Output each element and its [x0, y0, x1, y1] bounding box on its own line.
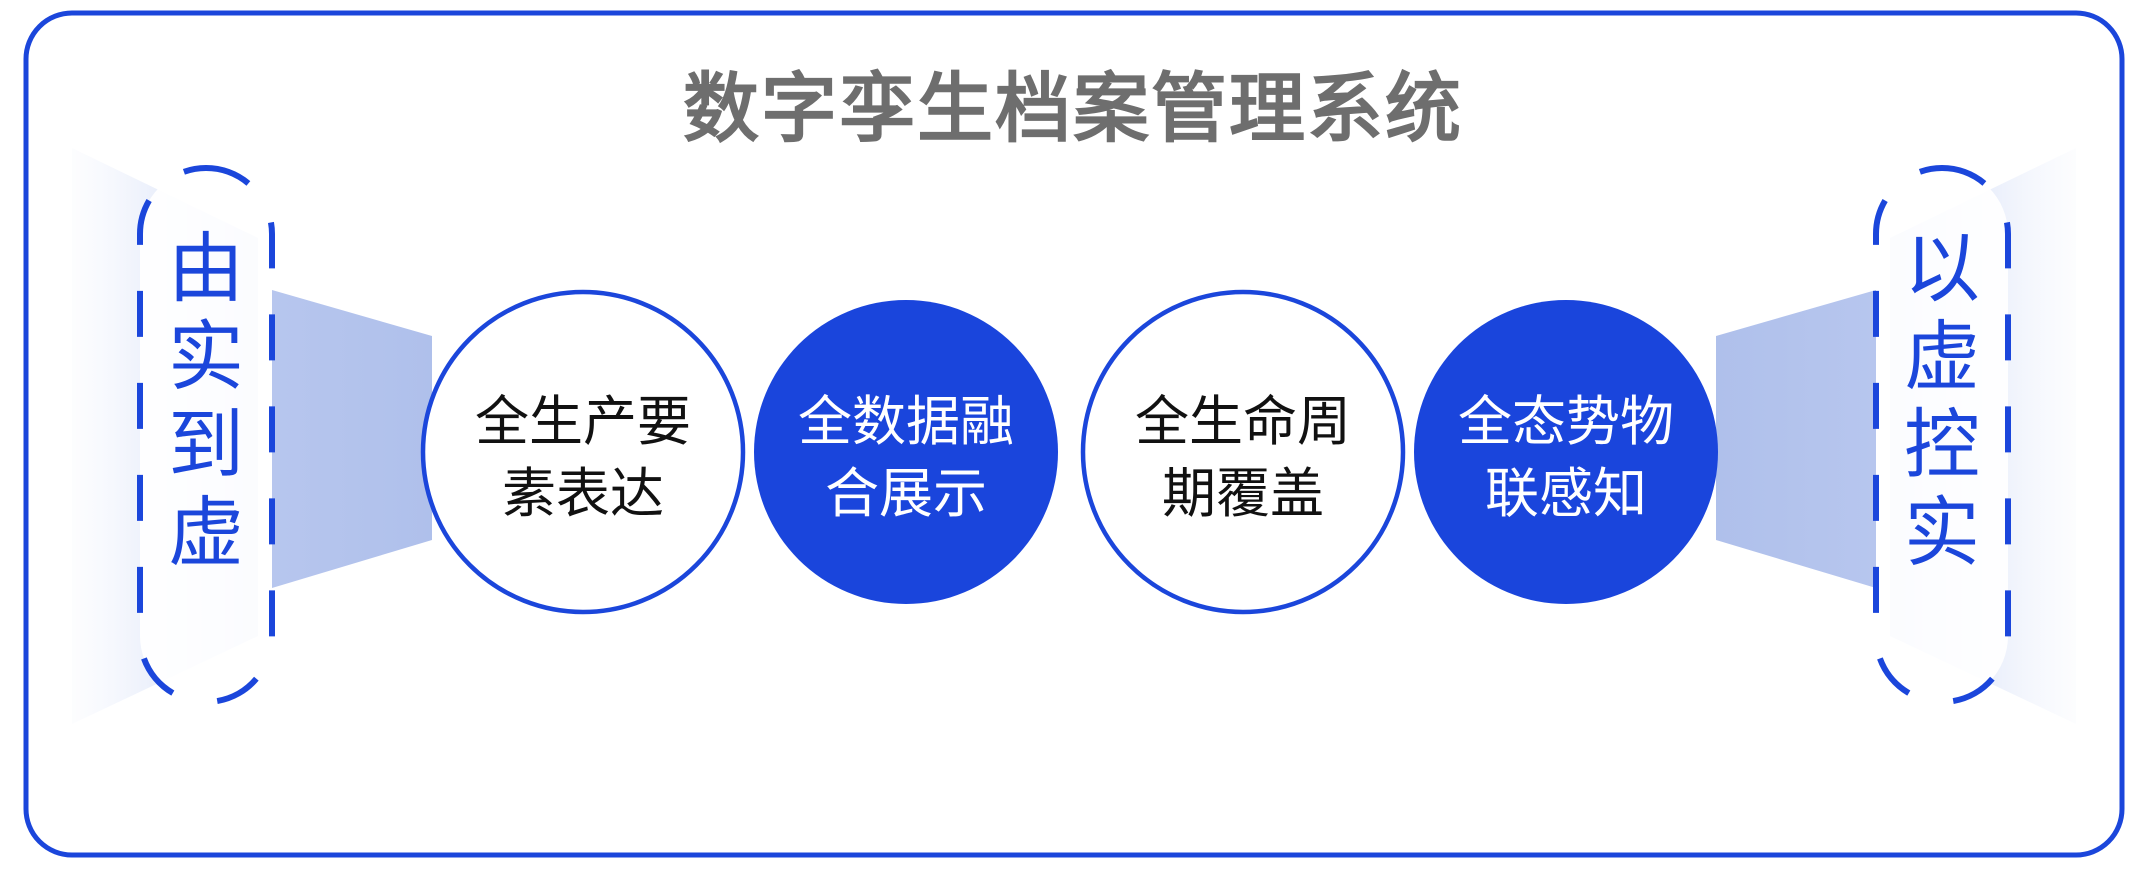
decor-funnel-group — [72, 148, 2076, 724]
circle-2-line-2: 合展示 — [825, 462, 987, 525]
circle-node-2[interactable]: 全数据融 合展示 — [754, 300, 1058, 604]
left-panel-label: 由 实 到 虚 — [168, 224, 244, 577]
right-panel-char-0: 以 — [1904, 224, 1980, 313]
left-panel[interactable]: 由 实 到 虚 — [140, 168, 272, 702]
digital-twin-archive-diagram: 数字孪生档案管理系统 由 实 到 虚 以 虚 控 实 全生产要 素表达 全生命周… — [0, 0, 2147, 872]
diagram-canvas: 数字孪生档案管理系统 由 实 到 虚 以 虚 控 实 全生产要 素表达 全生命周… — [0, 0, 2147, 872]
circle-1-line-2: 素表达 — [502, 462, 664, 525]
left-panel-char-1: 实 — [168, 312, 244, 401]
circle-3-line-2: 期覆盖 — [1162, 462, 1324, 525]
left-panel-char-0: 由 — [168, 224, 244, 313]
funnel-wedge-inner-left — [272, 290, 432, 588]
circle-4-line-1: 全态势物 — [1458, 390, 1674, 453]
right-panel-label: 以 虚 控 实 — [1904, 224, 1980, 577]
right-panel-char-2: 控 — [1904, 400, 1980, 489]
circle-node-4[interactable]: 全态势物 联感知 — [1414, 300, 1718, 604]
page-title: 数字孪生档案管理系统 — [683, 64, 1463, 153]
circle-4-line-2: 联感知 — [1485, 462, 1647, 525]
circle-3-line-1: 全生命周 — [1135, 390, 1351, 453]
right-panel-char-3: 实 — [1904, 488, 1980, 577]
funnel-wedge-inner-right — [1716, 290, 1876, 588]
circle-2-line-1: 全数据融 — [798, 390, 1014, 453]
right-panel-char-1: 虚 — [1904, 312, 1980, 401]
circle-1-line-1: 全生产要 — [475, 390, 691, 453]
left-panel-char-2: 到 — [168, 400, 244, 489]
left-panel-char-3: 虚 — [168, 488, 244, 577]
right-panel[interactable]: 以 虚 控 实 — [1876, 168, 2008, 702]
